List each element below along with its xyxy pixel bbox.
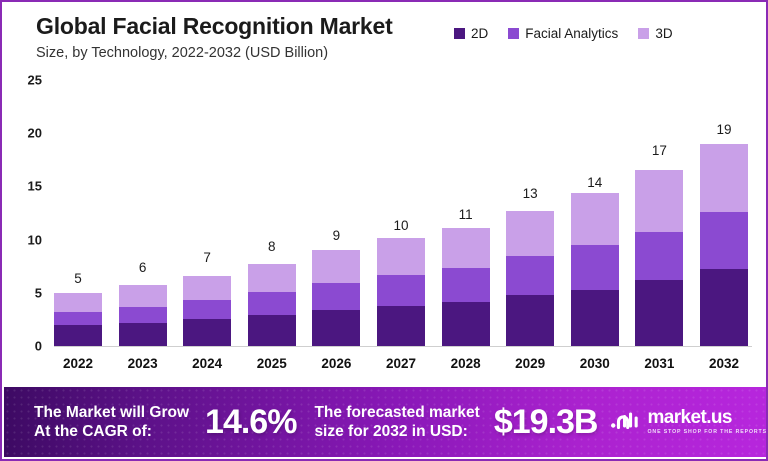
bar-column[interactable] — [119, 285, 167, 346]
x-axis-tick: 2025 — [248, 356, 296, 371]
bar-segment-3d — [312, 250, 360, 283]
soundwave-logo-icon — [611, 408, 641, 435]
bar-segment-2d — [54, 325, 102, 346]
bar-segment-facial-analytics — [54, 312, 102, 325]
bar-segment-3d — [571, 193, 619, 245]
bar-segment-facial-analytics — [571, 245, 619, 290]
bar-segment-2d — [635, 280, 683, 346]
bar-segment-3d — [635, 170, 683, 232]
bar-column[interactable] — [377, 238, 425, 347]
bar-segment-facial-analytics — [377, 275, 425, 306]
chart-infographic: Global Facial Recognition Market Size, b… — [0, 0, 768, 461]
bar-total-label: 6 — [119, 260, 167, 275]
plot-area: 0510152025 56789101113141719 20222023202… — [2, 80, 766, 380]
x-axis-tick: 2031 — [635, 356, 683, 371]
bar-total-label: 8 — [248, 239, 296, 254]
logo-tagline: ONE STOP SHOP FOR THE REPORTS — [647, 430, 767, 435]
cagr-label-line2: At the CAGR of: — [34, 423, 152, 440]
bar-total-label: 17 — [635, 143, 683, 158]
legend-swatch-icon — [508, 28, 519, 39]
legend-label: 3D — [655, 26, 672, 41]
bar-column[interactable] — [442, 228, 490, 346]
y-axis-tick: 0 — [35, 339, 42, 354]
bar-column[interactable] — [248, 264, 296, 346]
bar-segment-2d — [183, 319, 231, 346]
bar-segment-2d — [506, 295, 554, 346]
y-axis-tick: 5 — [35, 285, 42, 300]
bar-segment-3d — [119, 285, 167, 306]
bar-segment-facial-analytics — [183, 300, 231, 319]
x-axis-tick: 2023 — [119, 356, 167, 371]
bar-column[interactable] — [635, 170, 683, 346]
bar-column[interactable] — [54, 293, 102, 346]
y-axis-tick: 10 — [28, 232, 42, 247]
bar-segment-3d — [54, 293, 102, 312]
bar-segment-2d — [571, 290, 619, 346]
bar-segment-3d — [506, 211, 554, 256]
bar-segment-facial-analytics — [248, 292, 296, 315]
bar-segment-3d — [377, 238, 425, 275]
bar-segment-3d — [183, 276, 231, 300]
forecast-label: The forecasted market size for 2032 in U… — [314, 403, 479, 442]
x-axis-tick: 2029 — [506, 356, 554, 371]
x-axis-tick: 2026 — [312, 356, 360, 371]
chart-subtitle: Size, by Technology, 2022-2032 (USD Bill… — [36, 45, 393, 61]
x-axis-tick: 2027 — [377, 356, 425, 371]
legend-swatch-icon — [638, 28, 649, 39]
x-axis-tick: 2032 — [700, 356, 748, 371]
cagr-label-line1: The Market will Grow — [34, 404, 189, 421]
bar-total-label: 7 — [183, 250, 231, 265]
x-axis-tick: 2022 — [54, 356, 102, 371]
bar-segment-2d — [312, 310, 360, 346]
legend-item-facial-analytics[interactable]: Facial Analytics — [508, 26, 618, 41]
x-axis-tick: 2028 — [442, 356, 490, 371]
bar-column[interactable] — [312, 250, 360, 346]
forecast-label-line1: The forecasted market — [314, 404, 479, 421]
bar-total-label: 13 — [506, 186, 554, 201]
bar-segment-3d — [442, 228, 490, 268]
bar-segment-facial-analytics — [506, 256, 554, 295]
bar-segment-2d — [119, 323, 167, 346]
bar-total-label: 14 — [571, 175, 619, 190]
bar-segment-facial-analytics — [700, 212, 748, 269]
bar-segment-2d — [700, 269, 748, 346]
forecast-value: $19.3B — [494, 403, 598, 442]
bar-segment-facial-analytics — [442, 268, 490, 302]
title-block: Global Facial Recognition Market Size, b… — [36, 14, 393, 61]
x-axis-tick: 2030 — [571, 356, 619, 371]
bar-total-label: 19 — [700, 122, 748, 137]
y-axis: 0510152025 — [2, 80, 50, 360]
x-axis-tick: 2024 — [183, 356, 231, 371]
bar-column[interactable] — [183, 276, 231, 346]
legend-label: Facial Analytics — [525, 26, 618, 41]
bar-segment-facial-analytics — [119, 307, 167, 323]
bar-segment-3d — [248, 264, 296, 292]
bar-segment-facial-analytics — [635, 232, 683, 280]
bar-column[interactable] — [571, 193, 619, 346]
chart-legend: 2DFacial Analytics3D — [454, 26, 673, 41]
bar-segment-3d — [700, 144, 748, 212]
legend-item-2d[interactable]: 2D — [454, 26, 488, 41]
legend-label: 2D — [471, 26, 488, 41]
bar-total-label: 11 — [442, 207, 490, 222]
footer-banner: The Market will Grow At the CAGR of: 14.… — [4, 387, 768, 457]
page-title: Global Facial Recognition Market — [36, 14, 393, 39]
cagr-value: 14.6% — [205, 403, 296, 442]
y-axis-tick: 25 — [28, 73, 42, 88]
bar-total-label: 9 — [312, 228, 360, 243]
bar-segment-2d — [442, 302, 490, 346]
forecast-label-line2: size for 2032 in USD: — [314, 423, 467, 440]
y-axis-tick: 15 — [28, 179, 42, 194]
logo-name: market.us — [647, 408, 767, 427]
bar-segment-facial-analytics — [312, 283, 360, 310]
logo-text: market.us ONE STOP SHOP FOR THE REPORTS — [647, 408, 767, 435]
bar-column[interactable] — [700, 144, 748, 346]
cagr-label: The Market will Grow At the CAGR of: — [34, 403, 189, 442]
bar-total-label: 5 — [54, 271, 102, 286]
x-axis-line — [54, 346, 752, 347]
bar-segment-2d — [377, 306, 425, 346]
chart-header: Global Facial Recognition Market Size, b… — [2, 2, 766, 80]
bars-container: 56789101113141719 — [54, 80, 748, 346]
y-axis-tick: 20 — [28, 126, 42, 141]
bar-total-label: 10 — [377, 218, 425, 233]
legend-swatch-icon — [454, 28, 465, 39]
bar-column[interactable] — [506, 211, 554, 346]
legend-item-3d[interactable]: 3D — [638, 26, 672, 41]
bar-segment-2d — [248, 315, 296, 346]
market-us-logo[interactable]: market.us ONE STOP SHOP FOR THE REPORTS — [611, 408, 767, 435]
